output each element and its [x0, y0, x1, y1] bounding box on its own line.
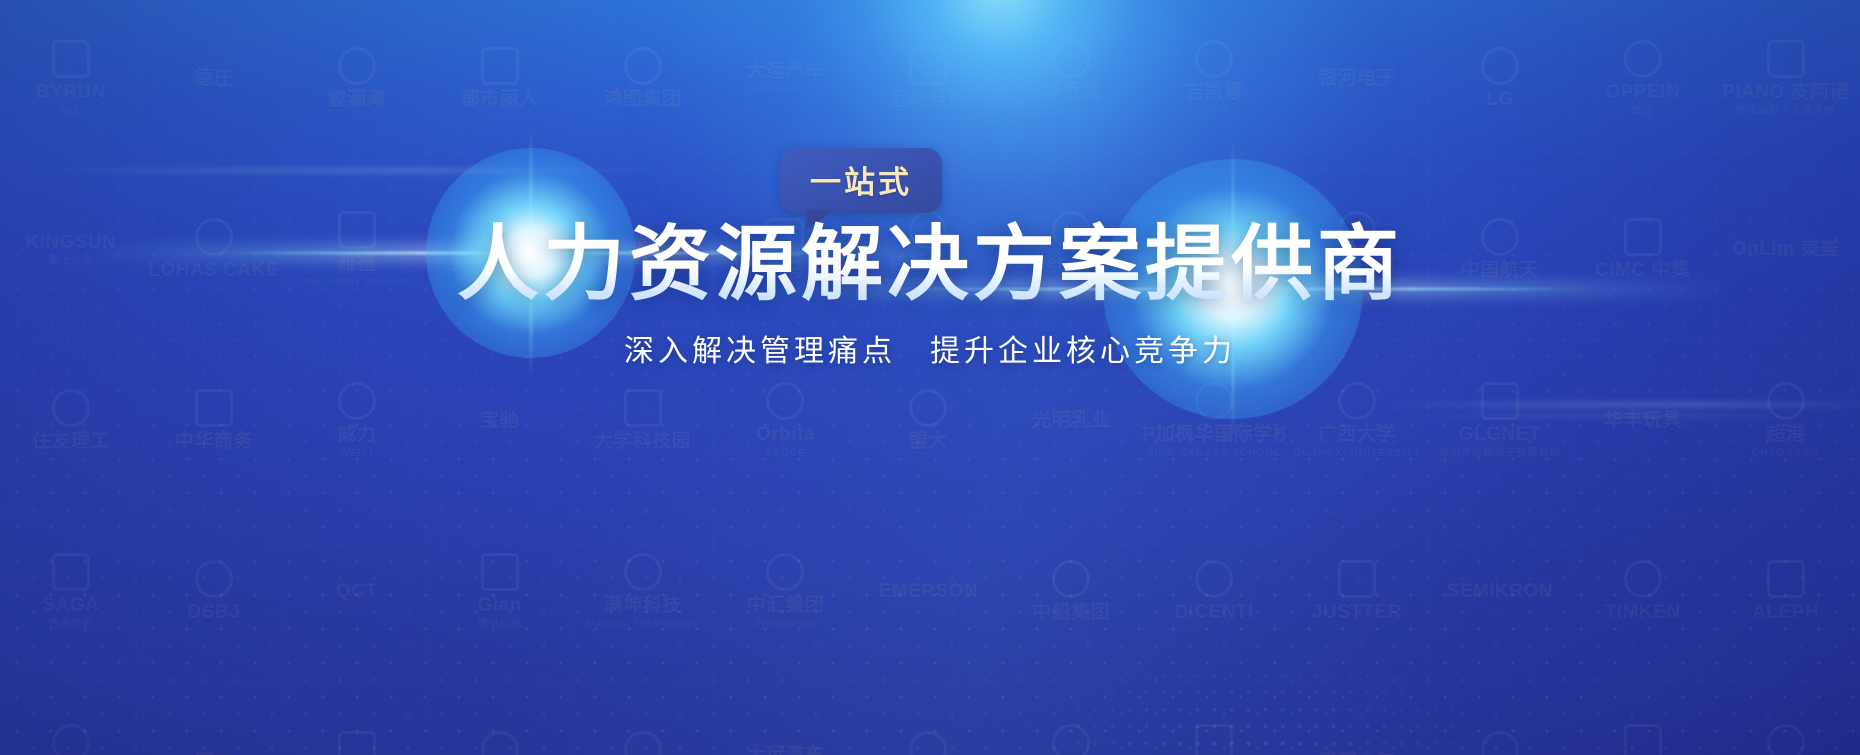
one-stop-badge-label: 一站式	[810, 165, 912, 200]
banner-content: 一站式 人力资源解决方案提供商 深入解决管理痛点 提升企业核心竞争力	[0, 0, 1860, 755]
banner-headline: 人力资源解决方案提供商	[457, 221, 1403, 310]
one-stop-badge[interactable]: 一站式	[780, 148, 942, 213]
banner-subheadline: 深入解决管理痛点 提升企业核心竞争力	[624, 326, 1236, 370]
one-stop-badge-wrapper: 一站式	[780, 148, 942, 213]
hero-banner: BYRUNBIZ德庄雲瀾灣都市丽人鸿图集团大运汽车DAYUNAUTO远峰科技华侨…	[0, 0, 1860, 755]
